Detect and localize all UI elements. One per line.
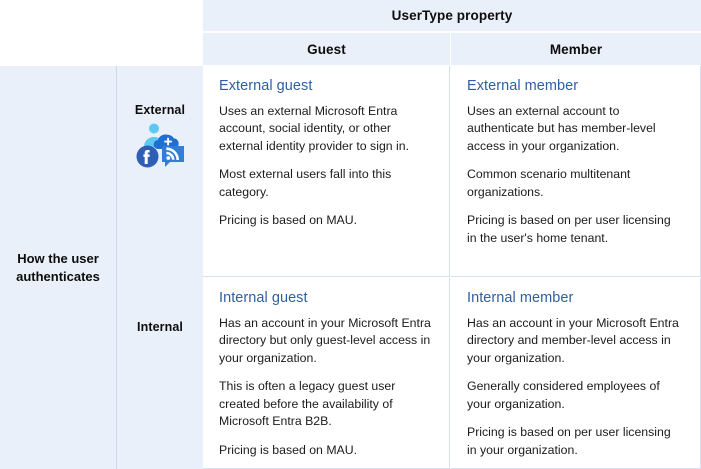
column-header-guest-label: Guest (307, 42, 346, 57)
cell-internal-member-paragraph: Pricing is based on per user licensing i… (467, 424, 682, 459)
cell-internal-member-paragraph: Generally considered employees of your o… (467, 378, 682, 413)
cell-internal-guest-paragraph: Has an account in your Microsoft Entra d… (219, 315, 431, 367)
row-label-internal: Internal (117, 278, 203, 469)
cell-internal-guest: Internal guest Has an account in your Mi… (203, 278, 450, 469)
cell-internal-member-title: Internal member (467, 290, 682, 306)
cell-external-guest-paragraph: Pricing is based on MAU. (219, 212, 431, 229)
cell-internal-member: Internal member Has an account in your M… (451, 278, 701, 469)
column-header-guest: Guest (203, 33, 450, 65)
cell-external-member-paragraph: Common scenario multitenant organization… (467, 166, 682, 201)
header-usertype-property-label: UserType property (392, 8, 513, 23)
cell-external-member: External member Uses an external account… (451, 66, 701, 277)
facebook-icon (136, 145, 159, 168)
row-group-label-how-the-user-authenticates: How the user authenticates (0, 66, 116, 469)
cell-external-guest-paragraph: Uses an external Microsoft Entra account… (219, 103, 431, 155)
cell-external-member-title: External member (467, 78, 682, 94)
cell-internal-guest-paragraph: Pricing is based on MAU. (219, 442, 431, 459)
cell-external-member-paragraph: Pricing is based on per user licensing i… (467, 212, 682, 247)
rss-icon (161, 145, 185, 168)
row-label-internal-text: Internal (137, 320, 183, 334)
row-group-label-text: How the user authenticates (0, 250, 116, 285)
cell-internal-member-paragraph: Has an account in your Microsoft Entra d… (467, 315, 682, 367)
cell-external-guest-paragraph: Most external users fall into this categ… (219, 166, 431, 201)
column-header-divider (450, 33, 451, 65)
cell-external-guest: External guest Uses an external Microsof… (203, 66, 450, 277)
header-usertype-property: UserType property (203, 0, 701, 32)
cell-internal-guest-title: Internal guest (219, 290, 431, 306)
cell-internal-guest-paragraph: This is often a legacy guest user create… (219, 378, 431, 430)
cell-external-member-paragraph: Uses an external account to authenticate… (467, 103, 682, 155)
column-header-member-label: Member (550, 42, 602, 57)
row-label-external-text: External (135, 103, 185, 117)
usertype-comparison-matrix: UserType property Guest Member How the u… (0, 0, 701, 469)
cell-external-guest-title: External guest (219, 78, 431, 94)
external-identity-icon-cluster (136, 123, 184, 169)
column-header-member: Member (451, 33, 701, 65)
row-label-external: External (117, 66, 203, 277)
